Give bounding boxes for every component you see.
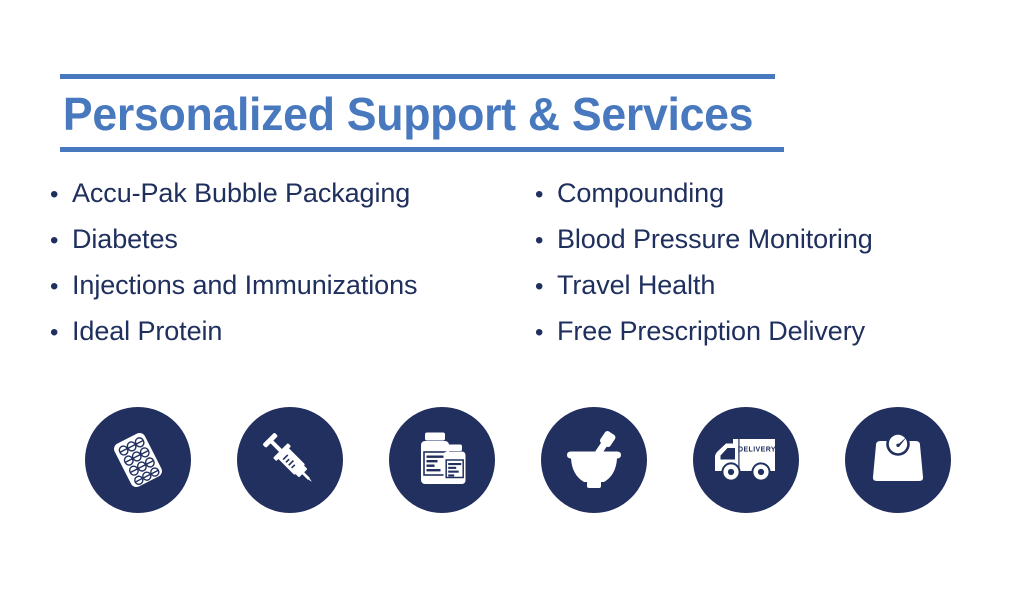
header-rule-bottom	[60, 147, 784, 152]
weight-scale-icon	[866, 428, 930, 492]
services-banner: Personalized Support & Services • Accu-P…	[0, 0, 1025, 590]
service-label: Compounding	[557, 178, 724, 209]
bullet-icon: •	[535, 275, 557, 299]
service-label: Ideal Protein	[72, 316, 222, 347]
bullet-icon: •	[50, 229, 72, 253]
header: Personalized Support & Services	[60, 74, 778, 152]
list-item: • Diabetes	[50, 224, 535, 270]
icon-badge-blister-pack	[85, 407, 191, 513]
list-item: • Ideal Protein	[50, 316, 535, 362]
page-title: Personalized Support & Services	[60, 79, 756, 147]
service-label: Accu-Pak Bubble Packaging	[72, 178, 410, 209]
list-item: • Free Prescription Delivery	[535, 316, 1025, 362]
icon-badge-syringe	[237, 407, 343, 513]
bullet-icon: •	[50, 275, 72, 299]
list-item: • Accu-Pak Bubble Packaging	[50, 178, 535, 224]
list-item: • Travel Health	[535, 270, 1025, 316]
blister-pack-icon	[106, 428, 170, 492]
list-item: • Compounding	[535, 178, 1025, 224]
icon-badge-medicine-bottles	[389, 407, 495, 513]
services-column-right: • Compounding • Blood Pressure Monitorin…	[535, 178, 1025, 362]
icon-badge-weight-scale	[845, 407, 951, 513]
service-label: Free Prescription Delivery	[557, 316, 865, 347]
services-column-left: • Accu-Pak Bubble Packaging • Diabetes •…	[0, 178, 535, 362]
service-label: Diabetes	[72, 224, 178, 255]
icon-badge-delivery-truck: DELIVERY	[693, 407, 799, 513]
truck-side-text: DELIVERY	[738, 447, 776, 454]
syringe-icon	[258, 428, 322, 492]
bullet-icon: •	[50, 183, 72, 207]
services-lists: • Accu-Pak Bubble Packaging • Diabetes •…	[0, 178, 1025, 362]
bullet-icon: •	[535, 229, 557, 253]
bullet-icon: •	[50, 321, 72, 345]
list-item: • Injections and Immunizations	[50, 270, 535, 316]
icon-badge-mortar-pestle	[541, 407, 647, 513]
service-icon-row: DELIVERY	[0, 407, 1025, 513]
delivery-truck-icon: DELIVERY	[711, 425, 781, 495]
bullet-icon: •	[535, 183, 557, 207]
service-label: Injections and Immunizations	[72, 270, 417, 301]
list-item: • Blood Pressure Monitoring	[535, 224, 1025, 270]
service-label: Blood Pressure Monitoring	[557, 224, 873, 255]
medicine-bottles-icon	[410, 428, 474, 492]
bullet-icon: •	[535, 321, 557, 345]
service-label: Travel Health	[557, 270, 715, 301]
mortar-pestle-icon	[561, 427, 627, 493]
